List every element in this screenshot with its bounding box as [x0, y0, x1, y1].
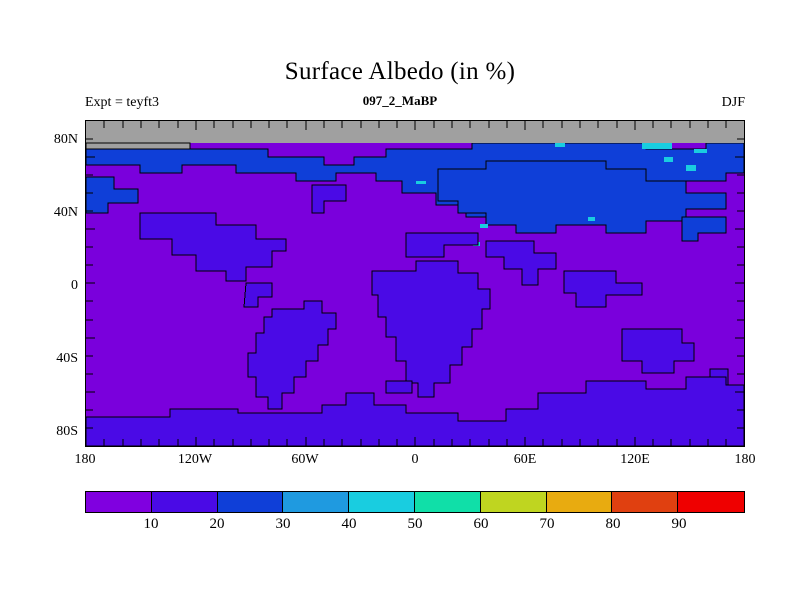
x-axis-tick-0: 0 — [412, 452, 419, 468]
colorbar-band-90-100 — [677, 492, 744, 512]
y-axis-tick-80s: 80S — [56, 424, 78, 440]
x-axis-tick-120e: 120E — [620, 452, 650, 468]
albedo-figure: Surface Albedo (in %) 097_2_MaBP Expt = … — [0, 0, 800, 600]
colorbar-tick-60: 60 — [474, 516, 489, 533]
colorbar-tick-40: 40 — [342, 516, 357, 533]
colorbar-tick-90: 90 — [672, 516, 687, 533]
colorbar-tick-10: 10 — [144, 516, 159, 533]
map-plot-area — [85, 120, 745, 447]
colorbar-band-50-60 — [414, 492, 481, 512]
colorbar-bands — [85, 491, 745, 513]
colorbar-tick-50: 50 — [408, 516, 423, 533]
colorbar-band-20-30 — [217, 492, 284, 512]
y-axis-tick-0: 0 — [71, 278, 78, 294]
page-title: Surface Albedo (in %) — [0, 58, 800, 86]
y-axis-tick-40n: 40N — [54, 205, 78, 221]
colorbar-band-40-50 — [348, 492, 415, 512]
x-axis-tick-120w: 120W — [178, 452, 212, 468]
colorbar-tick-80: 80 — [606, 516, 621, 533]
x-axis-tick-180w: 180 — [75, 452, 96, 468]
x-axis-tick-180e: 180 — [735, 452, 756, 468]
y-axis-tick-80n: 80N — [54, 132, 78, 148]
y-axis-tick-40s: 40S — [56, 351, 78, 367]
colorbar-tick-70: 70 — [540, 516, 555, 533]
colorbar — [85, 491, 745, 513]
colorbar-band-80-90 — [611, 492, 678, 512]
colorbar-band-10-20 — [151, 492, 218, 512]
experiment-label: Expt = teyft3 — [85, 95, 159, 111]
x-axis-tick-60w: 60W — [291, 452, 318, 468]
x-axis-tick-60e: 60E — [514, 452, 537, 468]
polar-missing-data-lobe-east — [642, 137, 744, 143]
albedo-contour-map — [86, 121, 744, 446]
colorbar-band-0-10 — [86, 492, 152, 512]
season-label: DJF — [722, 95, 745, 111]
colorbar-tick-20: 20 — [210, 516, 225, 533]
colorbar-band-70-80 — [546, 492, 613, 512]
polar-missing-data-lobe-west — [86, 143, 190, 149]
colorbar-band-30-40 — [282, 492, 349, 512]
colorbar-band-60-70 — [480, 492, 547, 512]
colorbar-tick-30: 30 — [276, 516, 291, 533]
